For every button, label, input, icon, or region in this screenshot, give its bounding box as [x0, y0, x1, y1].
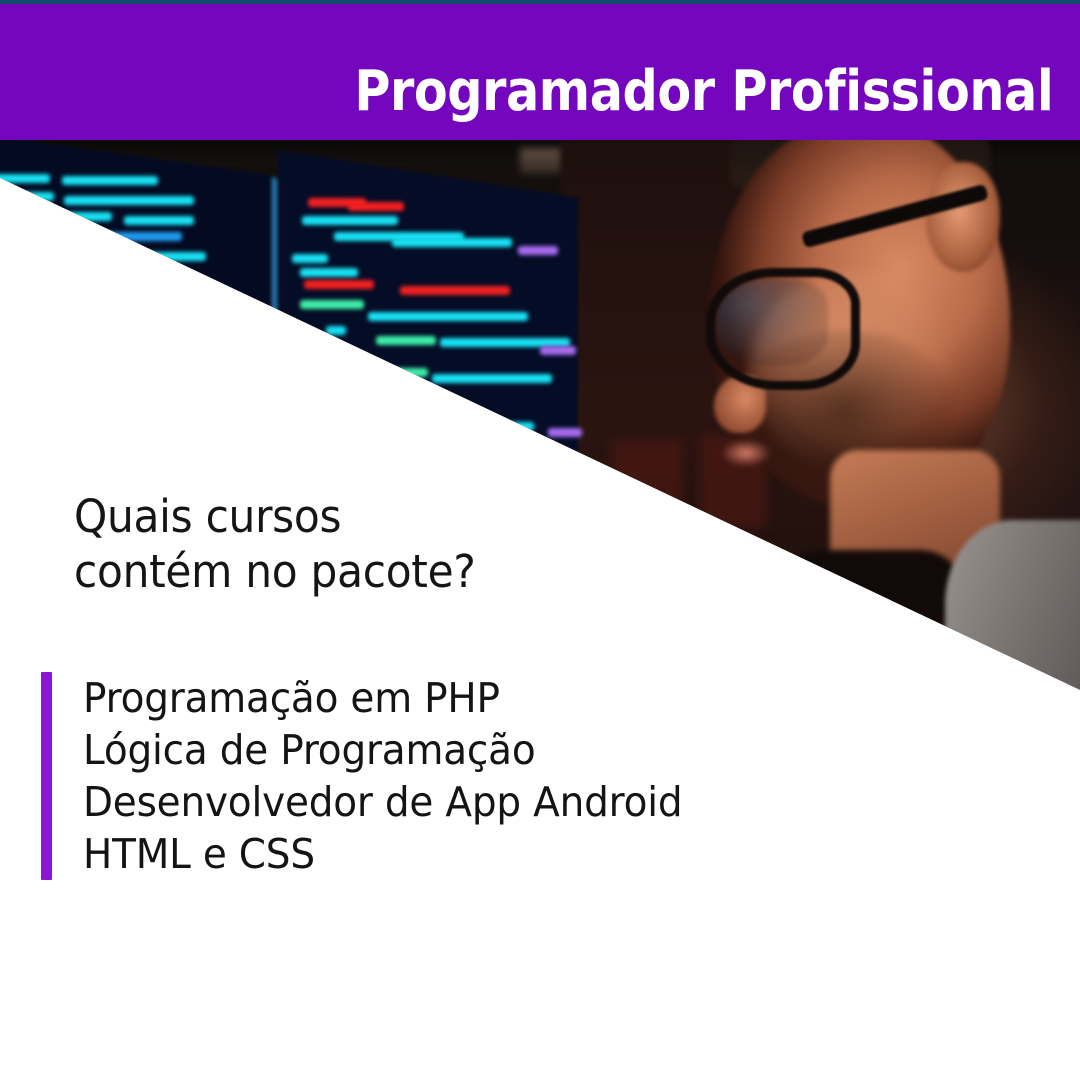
code-line	[368, 312, 528, 321]
code-line	[62, 176, 158, 185]
code-line	[432, 374, 552, 383]
course-list: Programação em PHP Lógica de Programação…	[52, 672, 714, 880]
subject-ear	[926, 162, 1000, 272]
content-area: Quais cursos contém no pacote? Programaç…	[0, 700, 1080, 1080]
glasses-icon	[706, 268, 860, 390]
code-line	[348, 202, 404, 211]
code-line	[518, 246, 558, 255]
code-line	[304, 280, 374, 289]
code-line	[326, 326, 346, 335]
code-line	[400, 286, 510, 295]
subject-lips	[722, 440, 770, 466]
code-line	[300, 300, 364, 309]
code-line	[300, 268, 358, 277]
question-heading: Quais cursos contém no pacote?	[74, 490, 476, 600]
code-line	[540, 346, 576, 355]
promo-card: Programador Profissional	[0, 0, 1080, 1080]
code-line	[124, 216, 194, 225]
course-list-block: Programação em PHP Lógica de Programação…	[41, 672, 714, 880]
code-line	[376, 336, 436, 345]
header-band: Programador Profissional	[0, 4, 1080, 140]
code-line	[548, 428, 582, 437]
page-title: Programador Profissional	[354, 64, 1053, 120]
code-line	[64, 196, 194, 205]
accent-bar	[41, 672, 52, 880]
code-line	[302, 216, 398, 225]
list-item: Desenvolvedor de App Android	[83, 776, 682, 828]
code-line	[392, 238, 512, 247]
list-item: Programação em PHP	[83, 672, 682, 724]
code-line	[292, 254, 328, 263]
list-item: HTML e CSS	[83, 828, 682, 880]
list-item: Lógica de Programação	[83, 724, 682, 776]
